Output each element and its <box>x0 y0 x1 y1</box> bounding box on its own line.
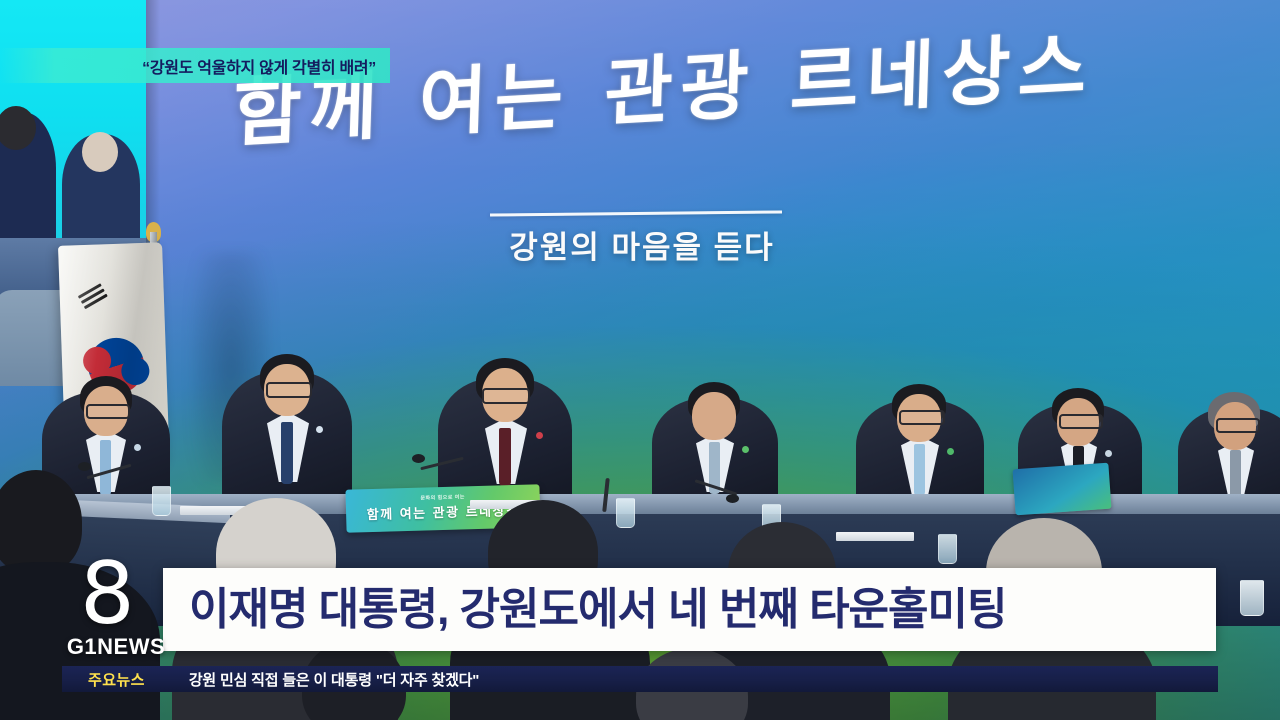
headline-text: 이재명 대통령, 강원도에서 네 번째 타운홀미팅 <box>163 588 1006 632</box>
quote-banner: “강원도 억울하지 않게 각별히 배려” <box>0 48 390 83</box>
water-glass-2 <box>616 498 635 528</box>
channel-number-icon: 8 <box>80 556 135 632</box>
document-3 <box>836 532 914 541</box>
channel-name-label: G1NEWS <box>66 634 166 660</box>
water-glass-1 <box>152 486 171 516</box>
ticker-category-label: 주요뉴스 <box>62 669 145 690</box>
microphone-head-3 <box>726 494 739 503</box>
monitor-panel <box>1013 463 1112 516</box>
headline-bar: 이재명 대통령, 강원도에서 네 번째 타운홀미팅 <box>163 568 1216 651</box>
panel-figure-right-head <box>82 132 118 172</box>
microphone-head-2 <box>412 454 425 463</box>
water-glass-4 <box>938 534 957 564</box>
ticker-headline-text: 강원 민심 직접 들은 이 대통령 "더 자주 찾겠다" <box>145 669 479 690</box>
channel-logo: 8 G1NEWS <box>66 556 166 660</box>
broadcast-screen: 함께 여는 관광 르네상스 강원의 마음을 듣다 <box>0 0 1280 720</box>
quote-banner-text: “강원도 억울하지 않게 각별히 배려” <box>142 54 390 78</box>
microphone-head-1 <box>78 462 91 471</box>
ticker-bar[interactable]: 주요뉴스 강원 민심 직접 들은 이 대통령 "더 자주 찾겠다" <box>62 666 1218 692</box>
water-glass-5 <box>1240 580 1264 616</box>
